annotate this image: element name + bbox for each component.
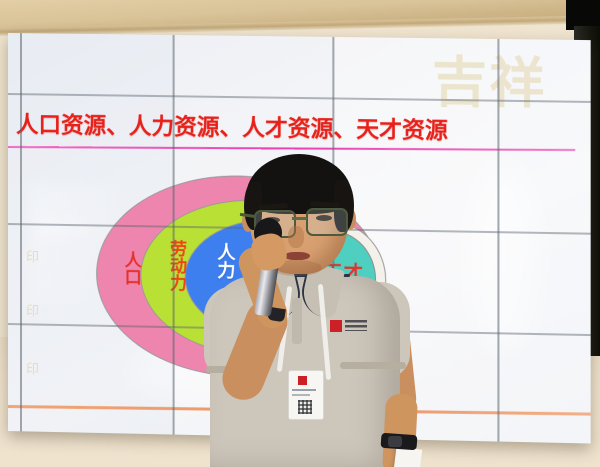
shirt-placket	[292, 298, 302, 344]
nose	[288, 226, 304, 248]
label-labor-force: 劳动力	[167, 240, 184, 292]
screenshot-scene: 吉祥 印 印 印 人口资源、人力资源、人才资源、天才资源 人口 劳动力 人力 天…	[0, 0, 600, 467]
chest-logo-text	[345, 320, 367, 331]
presenter	[188, 148, 428, 467]
seal-watermark-1: 印	[26, 251, 38, 265]
seal-watermark-3: 印	[26, 363, 38, 377]
badge-text-line-1	[292, 389, 316, 391]
glasses-bridge	[292, 217, 307, 220]
glasses-lens-right	[306, 208, 348, 236]
mouth	[284, 252, 310, 260]
seal-watermark-2: 印	[26, 305, 38, 319]
sleeve-right	[340, 362, 406, 369]
window-reflection-bar	[38, 219, 114, 236]
chest-logo-icon	[330, 320, 342, 332]
badge-logo-icon	[298, 376, 307, 385]
badge-text-line-2	[292, 394, 310, 396]
badge-qr-icon	[298, 400, 312, 414]
calligraphy-watermark: 吉祥	[432, 56, 546, 109]
label-population: 人口	[121, 251, 138, 285]
wristwatch-face	[388, 436, 402, 447]
